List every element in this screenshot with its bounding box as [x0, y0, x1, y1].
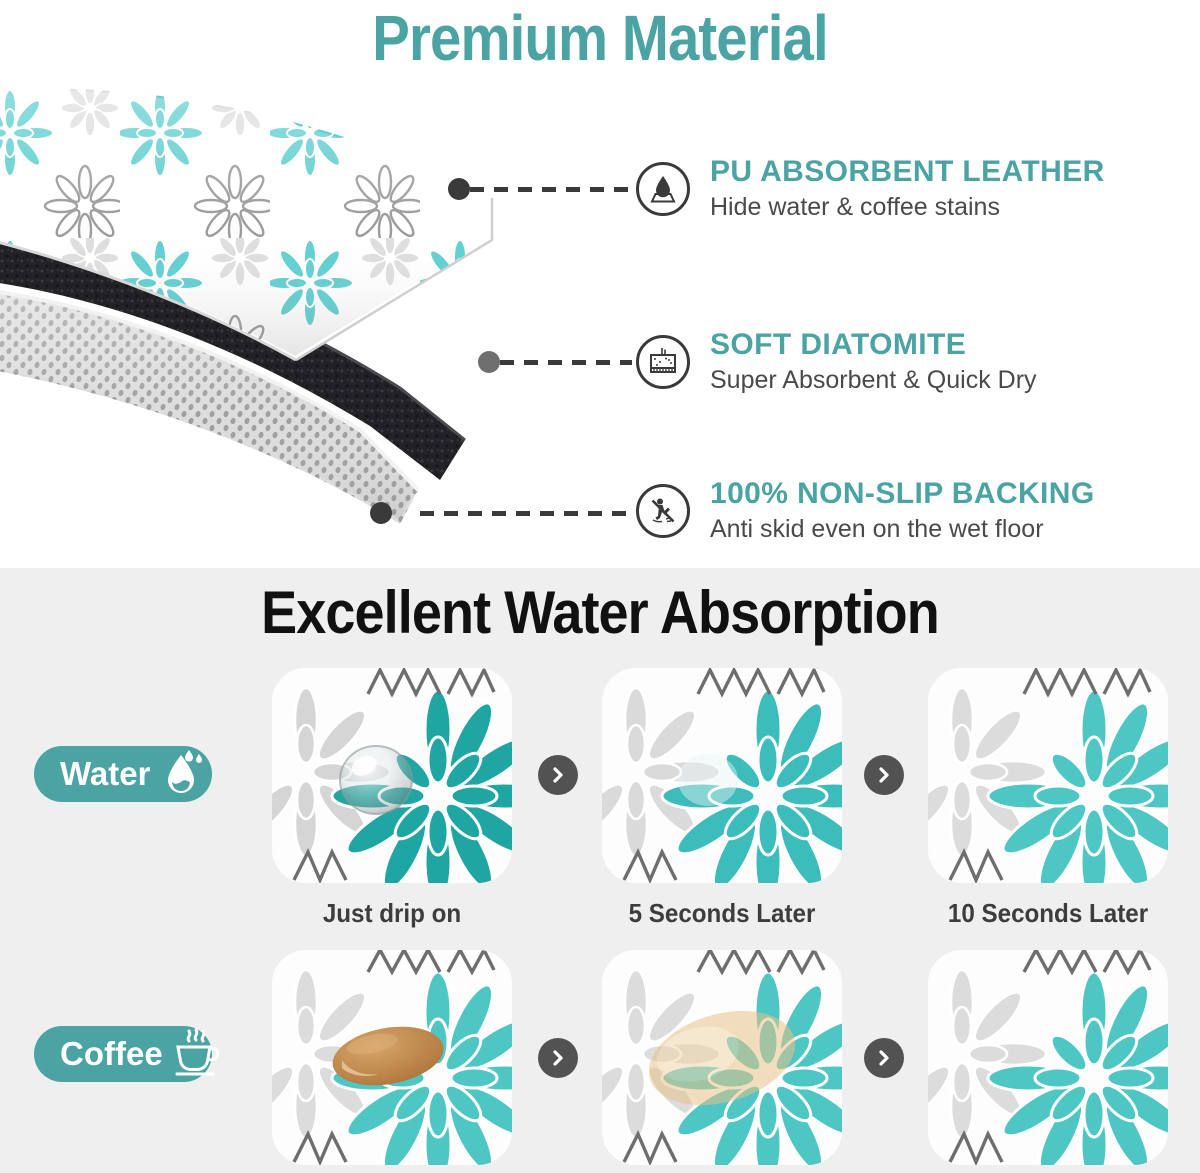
chevron-right-icon: [864, 1038, 904, 1078]
water-absorption-section: Excellent Water Absorption Water Coffee: [0, 568, 1200, 1173]
tile-water-step-3: [928, 668, 1168, 883]
step-caption-10-seconds-later: 10 Seconds Later: [936, 898, 1159, 928]
callout-subtitle: Hide water & coffee stains: [710, 191, 1105, 223]
chevron-right-icon: [864, 755, 904, 795]
callout-non-slip-backing: 100% NON-SLIP BACKING Anti skid even on …: [636, 474, 1095, 548]
water-absorption-title: Excellent Water Absorption: [60, 580, 1140, 646]
water-droplet: [340, 746, 412, 814]
coffee-pill-label: Coffee: [60, 1035, 163, 1073]
callout-subtitle: Super Absorbent & Quick Dry: [710, 364, 1037, 396]
water-label-pill: Water: [34, 746, 212, 802]
callout-soft-diatomite: SOFT DIATOMITE Super Absorbent & Quick D…: [636, 325, 1037, 399]
step-caption-just-drip-on: Just drip on: [280, 898, 503, 928]
callout-text-group: SOFT DIATOMITE Super Absorbent & Quick D…: [710, 328, 1037, 396]
connector-dot-non-slip: [370, 502, 392, 524]
connector-dot-diatomite: [478, 351, 500, 373]
tile-water-step-1: [272, 668, 512, 883]
premium-material-section: Premium Material: [0, 0, 1200, 568]
water-drop-on-mat-icon: [636, 162, 690, 216]
no-slip-person-icon: [636, 484, 690, 538]
connector-dot-pu-leather: [448, 178, 470, 200]
callout-title: SOFT DIATOMITE: [710, 328, 1037, 362]
premium-material-title: Premium Material: [72, 2, 1128, 74]
callout-pu-absorbent-leather: PU ABSORBENT LEATHER Hide water & coffee…: [636, 152, 1105, 226]
chevron-right-icon: [538, 1038, 578, 1078]
connector-line-diatomite: [500, 360, 632, 365]
callout-title: PU ABSORBENT LEATHER: [710, 155, 1105, 189]
callout-subtitle: Anti skid even on the wet floor: [710, 513, 1095, 545]
tile-coffee-step-1: [272, 950, 512, 1165]
absorbent-pad-icon: [636, 335, 690, 389]
tile-water-step-2: [602, 668, 842, 883]
callout-text-group: 100% NON-SLIP BACKING Anti skid even on …: [710, 477, 1095, 545]
coffee-cup-icon: [169, 1028, 223, 1080]
connector-line-pu-leather: [470, 187, 632, 192]
chevron-right-icon: [538, 755, 578, 795]
water-drop-icon: [156, 749, 206, 799]
callout-title: 100% NON-SLIP BACKING: [710, 477, 1095, 511]
tile-coffee-step-3: [928, 950, 1168, 1165]
product-cross-section-photo: [0, 88, 570, 558]
coffee-label-pill: Coffee: [34, 1026, 212, 1082]
step-caption-5-seconds-later: 5 Seconds Later: [610, 898, 833, 928]
connector-line-non-slip: [420, 511, 632, 516]
callout-text-group: PU ABSORBENT LEATHER Hide water & coffee…: [710, 155, 1105, 223]
tile-coffee-step-2: [602, 950, 842, 1165]
water-pill-label: Water: [60, 755, 150, 793]
